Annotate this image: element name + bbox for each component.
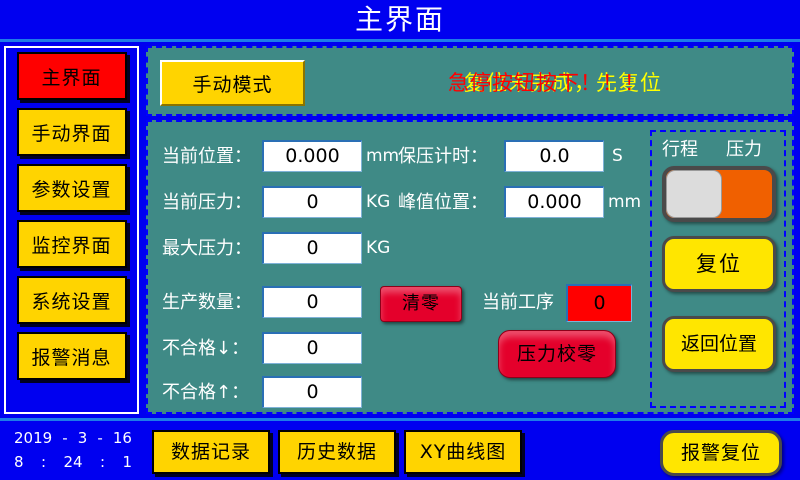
- bottom-bar: 2019 - 3 - 16 8 : 24 : 1 数据记录 历史数据 XY曲线图…: [0, 418, 800, 480]
- value-current-process: 0: [566, 284, 632, 322]
- time-hour: 8: [14, 450, 24, 474]
- date-month: 3: [78, 426, 88, 450]
- xy-curve-chart-button[interactable]: XY曲线图: [404, 430, 522, 474]
- time-row: 8 : 24 : 1: [8, 450, 138, 474]
- page-title: 主界面: [0, 0, 800, 40]
- value-peak-position[interactable]: 0.000: [504, 186, 604, 218]
- date-sep-1: -: [62, 426, 67, 450]
- toggle-label-stroke: 行程: [662, 138, 698, 162]
- datetime-display: 2019 - 3 - 16 8 : 24 : 1: [8, 426, 138, 474]
- time-sep-1: :: [41, 450, 46, 474]
- value-max-pressure[interactable]: 0: [262, 232, 362, 264]
- time-second: 1: [122, 450, 132, 474]
- label-max-pressure: 最大压力：: [162, 236, 252, 262]
- date-day: 16: [113, 426, 132, 450]
- data-record-button[interactable]: 数据记录: [152, 430, 270, 474]
- label-hold-timer: 保压计时：: [398, 144, 488, 170]
- label-production-count: 生产数量：: [162, 290, 252, 316]
- label-reject-low: 不合格↓：: [162, 336, 249, 362]
- sidebar-nav: 主界面 手动界面 参数设置 监控界面 系统设置 报警消息: [4, 46, 139, 414]
- mode-and-alarm-panel: 手动模式 复位未完成，先复位 急停按钮按下！！！: [146, 46, 794, 116]
- date-row: 2019 - 3 - 16: [8, 426, 138, 450]
- sidebar-item-monitor[interactable]: 监控界面: [17, 220, 127, 268]
- label-current-pressure: 当前压力：: [162, 190, 252, 216]
- date-sep-2: -: [97, 426, 102, 450]
- clear-counter-button[interactable]: 清零: [380, 286, 462, 322]
- bottom-divider: [0, 418, 800, 421]
- date-year: 2019: [14, 426, 52, 450]
- time-sep-2: :: [100, 450, 105, 474]
- history-data-button[interactable]: 历史数据: [278, 430, 396, 474]
- label-current-position: 当前位置：: [162, 144, 252, 170]
- toggle-label-pressure: 压力: [726, 138, 762, 162]
- title-divider: [0, 39, 800, 42]
- alarm-message-secondary: 急停按钮按下！！！: [448, 64, 778, 102]
- unit-current-position: mm: [366, 143, 399, 169]
- unit-current-pressure: KG: [366, 189, 390, 215]
- hmi-screen: 主界面 主界面 手动界面 参数设置 监控界面 系统设置 报警消息 手动模式 复位…: [0, 0, 800, 480]
- label-reject-high: 不合格↑：: [162, 380, 249, 406]
- pressure-zero-calibration-button[interactable]: 压力校零: [498, 330, 616, 378]
- alarm-message-area: 复位未完成，先复位 急停按钮按下！！！: [348, 64, 778, 102]
- value-production-count[interactable]: 0: [262, 286, 362, 318]
- value-reject-low[interactable]: 0: [262, 332, 362, 364]
- unit-hold-timer: S: [612, 143, 623, 169]
- alarm-reset-button[interactable]: 报警复位: [660, 430, 782, 476]
- main-data-panel: 当前位置： 0.000 mm 保压计时： 0.0 S 当前压力： 0 KG 峰值…: [146, 120, 794, 414]
- value-current-pressure[interactable]: 0: [262, 186, 362, 218]
- stroke-pressure-toggle[interactable]: [662, 166, 776, 222]
- time-minute: 24: [63, 450, 82, 474]
- unit-peak-position: mm: [608, 189, 641, 215]
- sidebar-item-main[interactable]: 主界面: [17, 52, 127, 100]
- sidebar-item-params[interactable]: 参数设置: [17, 164, 127, 212]
- return-position-button[interactable]: 返回位置: [662, 316, 776, 372]
- label-current-process: 当前工序: [482, 290, 554, 316]
- reset-button[interactable]: 复位: [662, 236, 776, 292]
- mode-control-panel: 行程 压力 复位 返回位置: [650, 130, 786, 408]
- label-peak-position: 峰值位置：: [398, 190, 488, 216]
- sidebar-item-alarms[interactable]: 报警消息: [17, 332, 127, 380]
- unit-max-pressure: KG: [366, 235, 390, 261]
- value-reject-high[interactable]: 0: [262, 376, 362, 408]
- mode-toggle-button[interactable]: 手动模式: [160, 60, 305, 106]
- sidebar-item-system[interactable]: 系统设置: [17, 276, 127, 324]
- sidebar-item-manual[interactable]: 手动界面: [17, 108, 127, 156]
- value-current-position[interactable]: 0.000: [262, 140, 362, 172]
- value-hold-timer[interactable]: 0.0: [504, 140, 604, 172]
- toggle-knob[interactable]: [666, 170, 722, 218]
